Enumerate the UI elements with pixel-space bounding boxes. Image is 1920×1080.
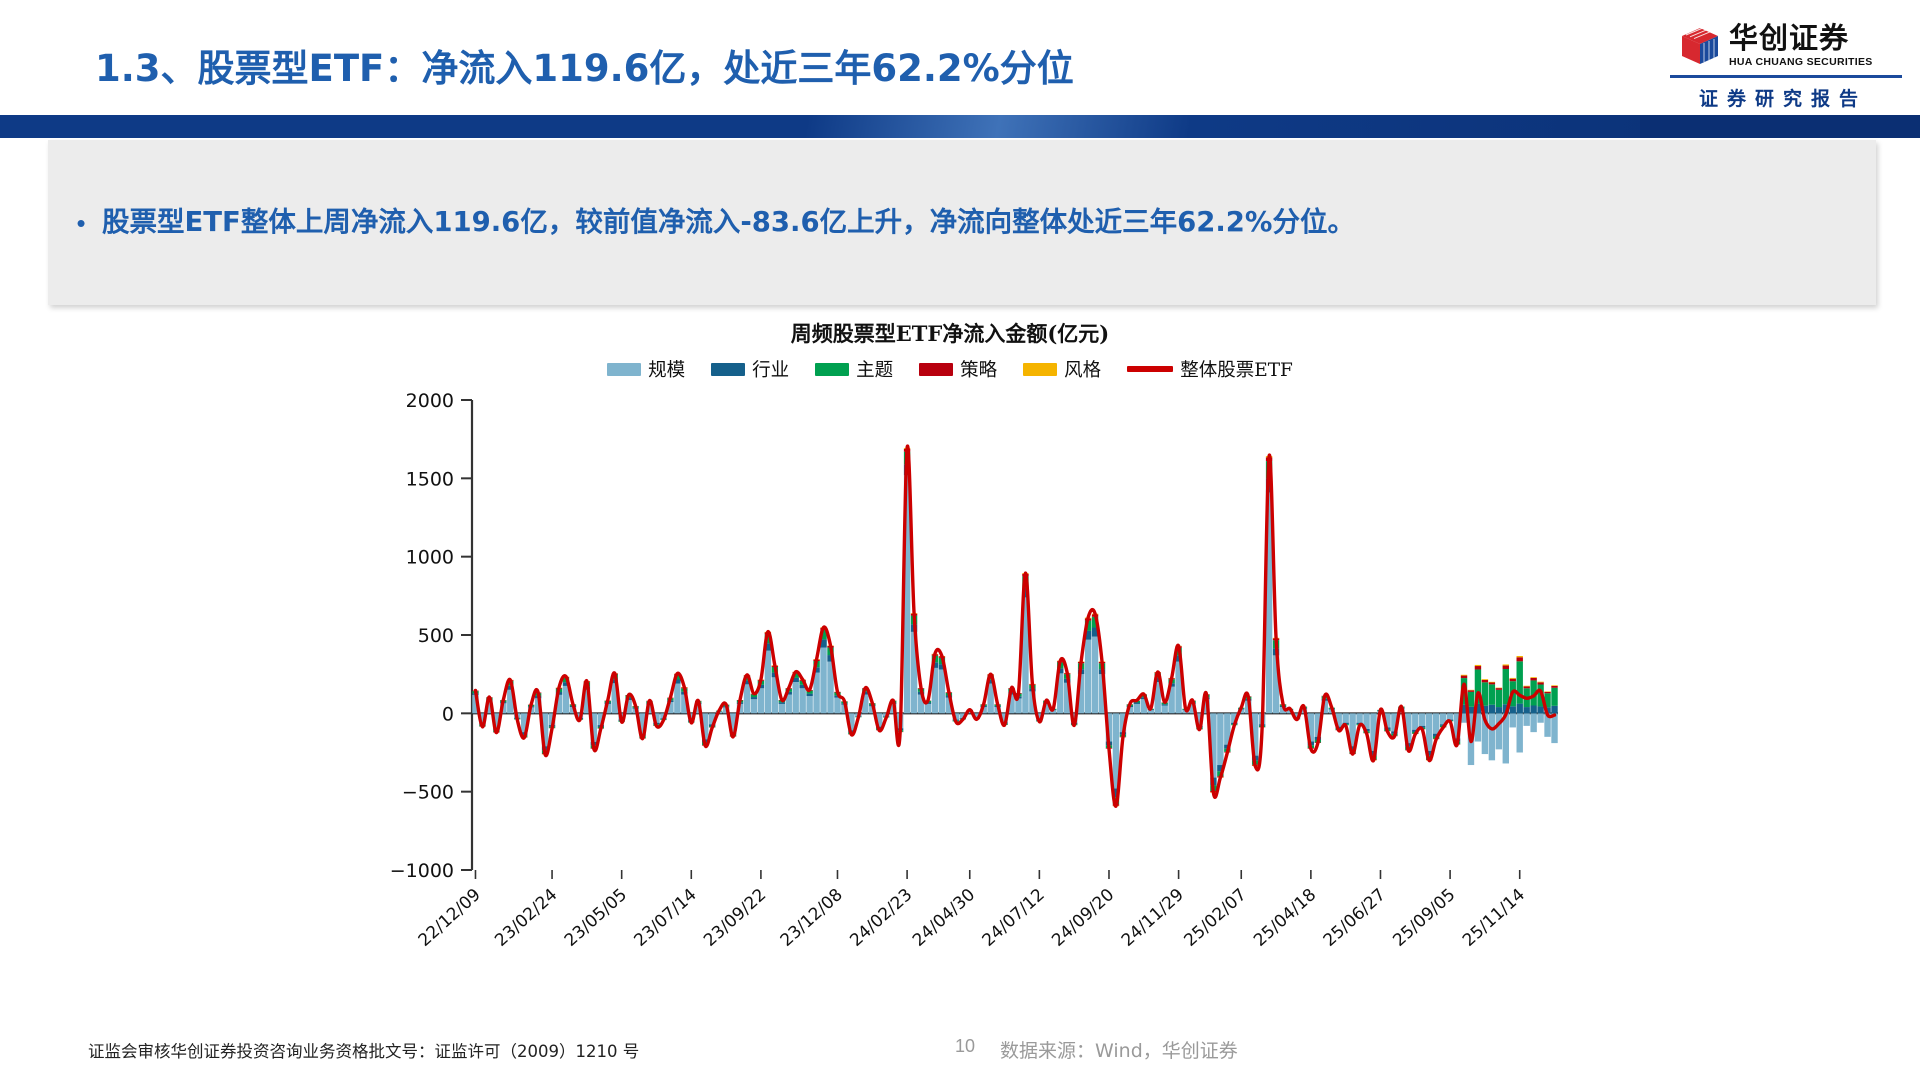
footer-source-text: 数据来源：Wind，华创证券 bbox=[1000, 1036, 1238, 1063]
chart-total-line bbox=[475, 446, 1554, 806]
y-axis-ticks: 2000150010005000−500−1000 bbox=[390, 390, 472, 882]
footer-license-text: 证监会审核华创证券投资咨询业务资格批文号：证监许可（2009）1210 号 bbox=[88, 1038, 639, 1062]
summary-callout-box: • 股票型ETF整体上周净流入119.6亿，较前值净流入-83.6亿上升，净流向… bbox=[48, 140, 1876, 305]
page-number: 10 bbox=[955, 1036, 975, 1057]
svg-text:24/02/23: 24/02/23 bbox=[846, 885, 916, 951]
svg-text:25/09/05: 25/09/05 bbox=[1389, 885, 1459, 951]
chart-plot: 2000150010005000−500−100022/12/0923/02/2… bbox=[300, 310, 1600, 1030]
page-title: 1.3、股票型ETF：净流入119.6亿，处近三年62.2%分位 bbox=[95, 38, 1074, 92]
logo-name-cn: 华创证券 bbox=[1729, 24, 1873, 53]
brand-logo: 华创证券 HUA CHUANG SECURITIES 证券研究报告 bbox=[1658, 24, 1908, 124]
svg-text:−500: −500 bbox=[402, 782, 454, 804]
logo-divider bbox=[1670, 75, 1902, 78]
chart-bars bbox=[472, 448, 1557, 806]
svg-text:−1000: −1000 bbox=[390, 860, 454, 882]
logo-name-en: HUA CHUANG SECURITIES bbox=[1729, 56, 1873, 68]
svg-text:23/02/24: 23/02/24 bbox=[491, 885, 561, 951]
svg-text:24/04/30: 24/04/30 bbox=[909, 885, 979, 951]
svg-text:23/07/14: 23/07/14 bbox=[631, 885, 701, 951]
svg-text:22/12/09: 22/12/09 bbox=[415, 885, 485, 951]
header-band-stripe bbox=[0, 115, 1920, 138]
svg-text:25/04/18: 25/04/18 bbox=[1250, 885, 1320, 951]
svg-text:2000: 2000 bbox=[406, 390, 454, 412]
svg-text:23/09/22: 23/09/22 bbox=[700, 885, 770, 951]
logo-cube-icon bbox=[1680, 26, 1720, 66]
bullet-marker-icon: • bbox=[60, 210, 102, 236]
svg-text:1000: 1000 bbox=[406, 547, 454, 569]
svg-text:24/11/29: 24/11/29 bbox=[1118, 885, 1188, 951]
svg-text:23/05/05: 23/05/05 bbox=[561, 885, 631, 951]
svg-text:25/02/07: 25/02/07 bbox=[1180, 885, 1250, 951]
svg-text:0: 0 bbox=[442, 703, 454, 725]
logo-subtitle: 证券研究报告 bbox=[1658, 84, 1908, 111]
svg-text:500: 500 bbox=[418, 625, 454, 647]
svg-text:23/12/08: 23/12/08 bbox=[777, 885, 847, 951]
slide-header: 1.3、股票型ETF：净流入119.6亿，处近三年62.2%分位 bbox=[0, 0, 1920, 130]
svg-text:25/06/27: 25/06/27 bbox=[1320, 885, 1390, 951]
summary-text: 股票型ETF整体上周净流入119.6亿，较前值净流入-83.6亿上升，净流向整体… bbox=[102, 203, 1355, 242]
chart-axes bbox=[472, 400, 1558, 870]
svg-text:24/07/12: 24/07/12 bbox=[979, 885, 1049, 951]
x-axis-ticks: 22/12/0923/02/2423/05/0523/07/1423/09/22… bbox=[415, 870, 1529, 951]
svg-text:1500: 1500 bbox=[406, 468, 454, 490]
svg-text:25/11/14: 25/11/14 bbox=[1459, 885, 1529, 951]
chart-container: 周频股票型ETF净流入金额(亿元) 规模行业主题策略风格整体股票ETF 2000… bbox=[300, 310, 1600, 1030]
svg-text:24/09/20: 24/09/20 bbox=[1048, 885, 1118, 951]
